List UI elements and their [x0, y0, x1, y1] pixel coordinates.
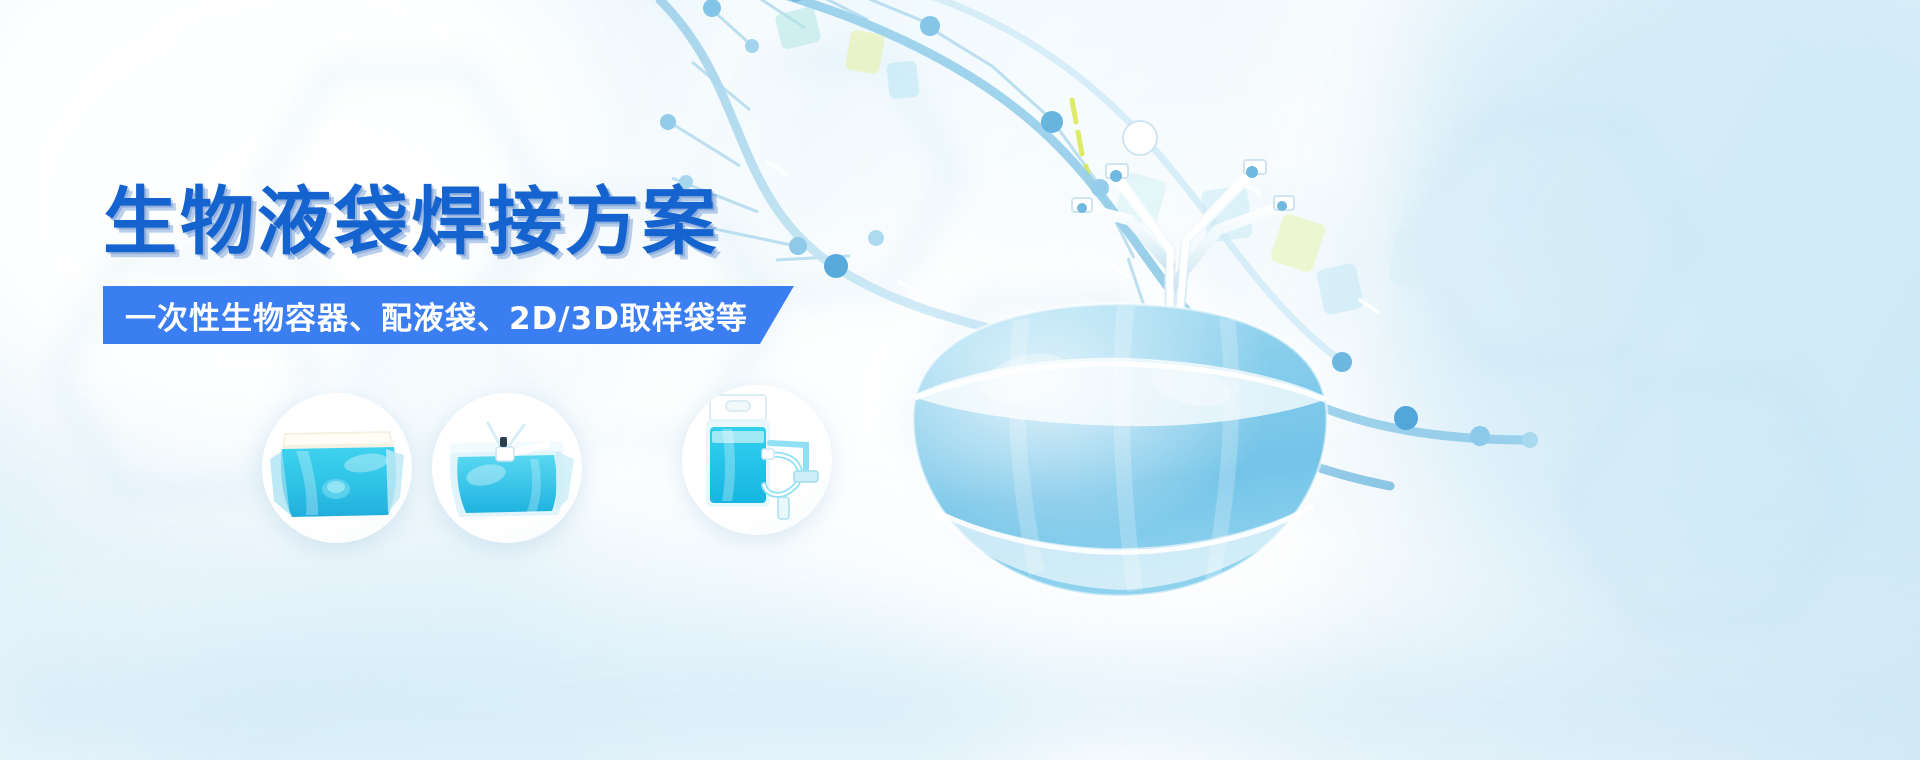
- subtitle-text: 一次性生物容器、配液袋、2D/3D取样袋等: [125, 293, 748, 338]
- product-thumbnail-2[interactable]: [432, 393, 582, 543]
- product-thumbnail-3[interactable]: [682, 385, 832, 535]
- promo-banner: 生物液袋焊接方案 一次性生物容器、配液袋、2D/3D取样袋等: [0, 0, 1920, 760]
- sampling-bag-icon: [682, 385, 832, 535]
- shelf-shadow: [0, 600, 1920, 740]
- subtitle-banner: 一次性生物容器、配液袋、2D/3D取样袋等: [103, 286, 794, 344]
- product-thumbnail-1[interactable]: [262, 393, 412, 543]
- page-title: 生物液袋焊接方案: [103, 178, 719, 266]
- bioreactor-bag-image: [905, 300, 1335, 600]
- media-bag-icon: [432, 393, 582, 543]
- bioprocess-bag-2d-icon: [262, 393, 412, 543]
